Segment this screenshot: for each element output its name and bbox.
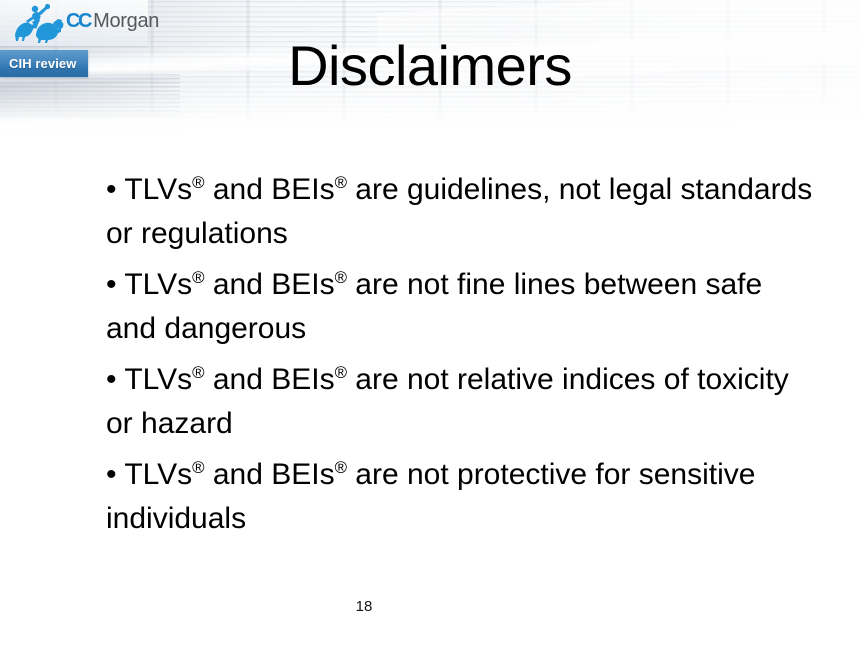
bullet-marker: •	[106, 173, 117, 206]
presentation-slide: CCMorgan CIH review Disclaimers • TLVs® …	[0, 0, 860, 650]
registered-mark-icon: ®	[335, 173, 347, 192]
bullet-item: • TLVs® and BEIs® are guidelines, not le…	[106, 168, 818, 256]
logo-wordmark: CCMorgan	[66, 11, 159, 31]
logo-wordmark-cc: CC	[66, 10, 90, 32]
registered-mark-icon: ®	[192, 458, 204, 477]
bullet-text-lead: TLVs	[124, 268, 192, 301]
registered-mark-icon: ®	[335, 363, 347, 382]
bullet-marker: •	[106, 268, 117, 301]
bullet-text-mid: and BEIs	[204, 173, 334, 206]
bullet-text-lead: TLVs	[124, 363, 192, 396]
bullet-text-lead: TLVs	[124, 458, 192, 491]
bullet-item: • TLVs® and BEIs® are not protective for…	[106, 453, 818, 541]
bullet-marker: •	[106, 458, 117, 491]
registered-mark-icon: ®	[192, 363, 204, 382]
registered-mark-icon: ®	[335, 458, 347, 477]
logo-wordmark-morgan: Morgan	[93, 10, 159, 32]
bullet-item: • TLVs® and BEIs® are not relative indic…	[106, 358, 818, 446]
bullet-text-mid: and BEIs	[204, 458, 334, 491]
bullet-text-mid: and BEIs	[204, 268, 334, 301]
bullet-item: • TLVs® and BEIs® are not fine lines bet…	[106, 263, 818, 351]
registered-mark-icon: ®	[192, 173, 204, 192]
bullet-text-lead: TLVs	[124, 173, 192, 206]
registered-mark-icon: ®	[192, 268, 204, 287]
bullet-text-mid: and BEIs	[204, 363, 334, 396]
page-number: 18	[0, 598, 860, 616]
registered-mark-icon: ®	[335, 268, 347, 287]
bullet-marker: •	[106, 363, 117, 396]
slide-body: • TLVs® and BEIs® are guidelines, not le…	[106, 168, 818, 548]
page-title: Disclaimers	[0, 34, 860, 98]
